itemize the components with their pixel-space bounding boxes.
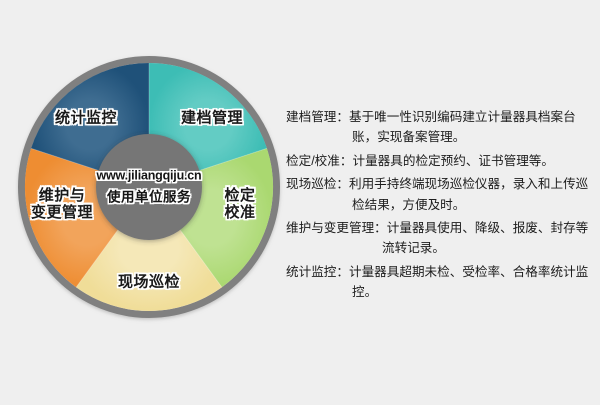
diagram-page: www.jiliangqiju.cn 使用单位服务 建档管理 检定 校准 现场巡… xyxy=(0,0,600,405)
description-term-tongji: 统计监控： xyxy=(286,265,349,279)
description-text-jianding: 计量器具的检定预约、证书管理等。 xyxy=(352,154,554,168)
description-item-jianding: 检定/校准：计量器具的检定预约、证书管理等。 xyxy=(286,151,594,171)
description-term-xianchang: 现场巡检： xyxy=(286,177,349,191)
description-list: 建档管理：基于唯一性识别编码建立计量器具档案台账，实现备案管理。 检定/校准：计… xyxy=(286,107,594,306)
description-term-weihu: 维护与变更管理： xyxy=(286,221,387,235)
donut-chart: www.jiliangqiju.cn 使用单位服务 建档管理 检定 校准 现场巡… xyxy=(18,56,280,318)
description-item-jiandang: 建档管理：基于唯一性识别编码建立计量器具档案台账，实现备案管理。 xyxy=(286,107,594,148)
description-text-jiandang: 基于唯一性识别编码建立计量器具档案台账，实现备案管理。 xyxy=(349,110,576,144)
description-term-jiandang: 建档管理： xyxy=(286,110,349,124)
description-text-tongji: 计量器具超期未检、受检率、合格率统计监控。 xyxy=(349,265,588,299)
description-text-weihu: 计量器具使用、降级、报废、封存等流转记录。 xyxy=(382,221,588,255)
description-term-jianding: 检定/校准： xyxy=(286,154,352,168)
donut-svg xyxy=(18,56,280,318)
description-item-tongji: 统计监控：计量器具超期未检、受检率、合格率统计监控。 xyxy=(286,262,594,303)
description-text-xianchang: 利用手持终端现场巡检仪器，录入和上传巡检结果，方便及时。 xyxy=(349,177,588,211)
hub-circle xyxy=(96,134,202,240)
description-item-weihu: 维护与变更管理：计量器具使用、降级、报废、封存等流转记录。 xyxy=(286,218,594,259)
description-item-xianchang: 现场巡检：利用手持终端现场巡检仪器，录入和上传巡检结果，方便及时。 xyxy=(286,174,594,215)
